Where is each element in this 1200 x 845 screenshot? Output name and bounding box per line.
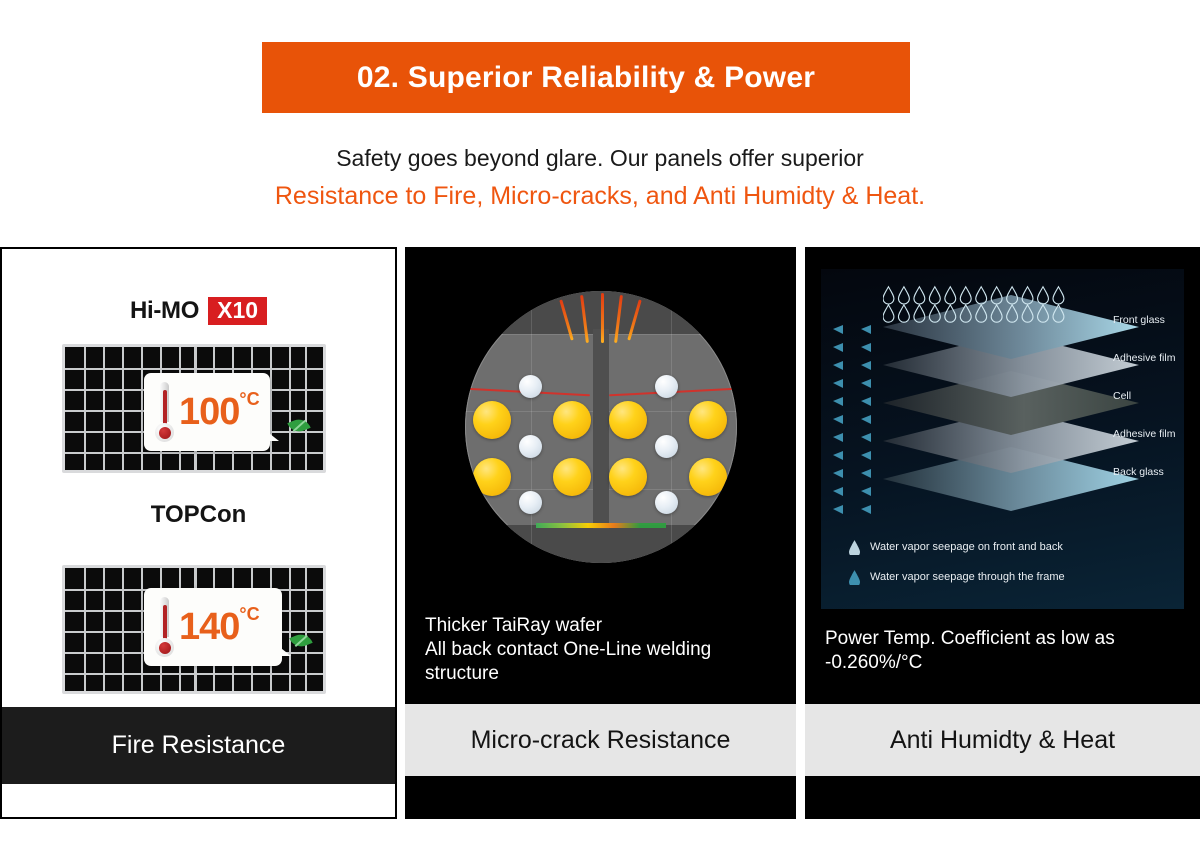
- arrow-seepage-icon-column: [831, 325, 887, 525]
- water-drop-icon: [849, 539, 860, 555]
- temp-value: 140: [179, 608, 239, 646]
- contact-pad: [519, 435, 542, 458]
- solder-pad: [609, 401, 647, 439]
- solder-pad: [553, 458, 591, 496]
- subtitle-line-2: Resistance to Fire, Micro-cracks, and An…: [0, 176, 1200, 216]
- section-banner: 02. Superior Reliability & Power: [262, 42, 910, 113]
- caption-line-2: -0.260%/°C: [825, 651, 1185, 675]
- legend-text: Water vapor seepage through the frame: [870, 571, 1065, 583]
- card-fire-body: Hi-MO X10: [2, 249, 395, 707]
- solder-pad: [609, 458, 647, 496]
- wafer-closeup-illustration: [465, 291, 737, 563]
- card-label-micro-crack-resistance[interactable]: Micro-crack Resistance: [405, 704, 796, 776]
- legend-text: Water vapor seepage on front and back: [870, 541, 1063, 553]
- card-label-text: Micro-crack Resistance: [471, 726, 731, 755]
- subtitle-line-1: Safety goes beyond glare. Our panels off…: [0, 140, 1200, 176]
- heat-flame-icon: [601, 293, 604, 343]
- card-micro-crack-resistance[interactable]: Thicker TaiRay wafer All back contact On…: [405, 247, 796, 819]
- thermometer-icon: [153, 382, 175, 442]
- card-caption-anti-humidity: Power Temp. Coefficient as low as -0.260…: [825, 627, 1185, 675]
- solder-pad: [689, 401, 727, 439]
- card-footer-spacer: [2, 784, 395, 817]
- caption-line-1: Power Temp. Coefficient as low as: [825, 627, 1185, 651]
- temperature-callout-himo: 100 °C: [144, 373, 270, 451]
- card-fire-resistance[interactable]: Hi-MO X10: [0, 247, 397, 819]
- thermometer-icon: [153, 597, 175, 657]
- card-label-text: Anti Humidty & Heat: [890, 726, 1115, 755]
- brand-row: Hi-MO X10: [2, 297, 395, 325]
- contact-pad: [655, 375, 678, 398]
- temp-unit: °C: [239, 389, 259, 410]
- card-label-anti-humidity-heat[interactable]: Anti Humidty & Heat: [805, 704, 1200, 776]
- water-drop-icon: [849, 569, 860, 585]
- water-drop-icon-row: [883, 283, 1083, 325]
- caption-line-2: All back contact One-Line welding: [425, 638, 785, 662]
- layer-label-front-glass: Front glass: [1113, 314, 1165, 326]
- layer-label-adhesive-film-top: Adhesive film: [1113, 352, 1175, 364]
- temp-unit: °C: [239, 604, 259, 625]
- layer-stack-illustration: Front glass Adhesive film Cell Adhesive …: [821, 269, 1184, 609]
- solar-panel-himo: 100 °C: [62, 344, 326, 473]
- layer-label-back-glass: Back glass: [1113, 466, 1164, 478]
- feature-card-row: Hi-MO X10: [0, 247, 1200, 819]
- layer-label-adhesive-film-bottom: Adhesive film: [1113, 428, 1175, 440]
- contact-pad: [655, 435, 678, 458]
- legend-item-frame: Water vapor seepage through the frame: [849, 569, 1065, 585]
- solar-panel-topcon: 140 °C: [62, 565, 326, 694]
- card-label-fire-resistance[interactable]: Fire Resistance: [2, 707, 395, 784]
- card-caption-micro-crack: Thicker TaiRay wafer All back contact On…: [425, 614, 785, 686]
- card-anti-humidity-heat[interactable]: Front glass Adhesive film Cell Adhesive …: [805, 247, 1200, 819]
- busbar: [593, 329, 609, 529]
- brand-badge: X10: [208, 297, 267, 325]
- temp-value: 100: [179, 393, 239, 431]
- banner-title: 02. Superior Reliability & Power: [357, 61, 815, 95]
- temperature-callout-topcon: 140 °C: [144, 588, 282, 666]
- caption-line-3: structure: [425, 662, 785, 686]
- contact-pad: [519, 491, 542, 514]
- wafer-bottom-band: [465, 525, 737, 563]
- solder-pad: [473, 401, 511, 439]
- contact-pad: [655, 491, 678, 514]
- legend-item-front-back: Water vapor seepage on front and back: [849, 539, 1063, 555]
- subtitle-block: Safety goes beyond glare. Our panels off…: [0, 140, 1200, 216]
- brand-name: Hi-MO: [130, 297, 199, 325]
- solder-pad: [553, 401, 591, 439]
- layer-label-cell: Cell: [1113, 390, 1131, 402]
- card-label-text: Fire Resistance: [112, 731, 286, 760]
- compare-label: TOPCon: [2, 501, 395, 529]
- solder-pad: [473, 458, 511, 496]
- spectrum-strip: [536, 523, 667, 528]
- slide-root: 02. Superior Reliability & Power Safety …: [0, 0, 1200, 845]
- caption-line-1: Thicker TaiRay wafer: [425, 614, 785, 638]
- solder-pad: [689, 458, 727, 496]
- contact-pad: [519, 375, 542, 398]
